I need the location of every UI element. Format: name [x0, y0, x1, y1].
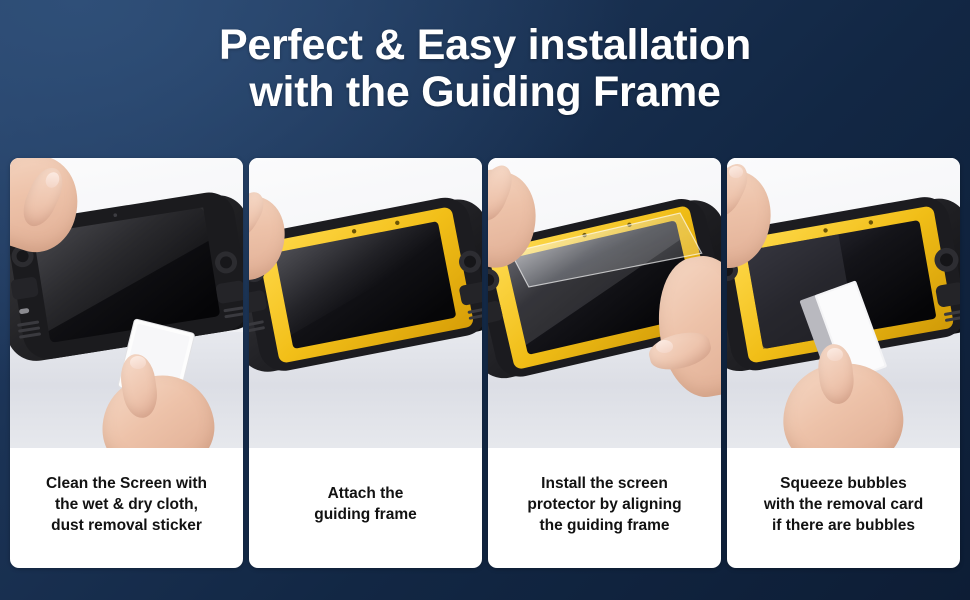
page-title: Perfect & Easy installation with the Gui… — [0, 22, 970, 116]
step-image-2 — [249, 158, 482, 448]
console-with-frame-graphic — [249, 158, 482, 448]
step-caption-4: Squeeze bubbles with the removal card if… — [727, 448, 960, 568]
step-image-1 — [10, 158, 243, 448]
steps-row: Clean the Screen with the wet & dry clot… — [10, 158, 960, 568]
caption-line: Squeeze bubbles — [764, 473, 923, 494]
deck-illustration-1 — [10, 158, 243, 448]
step-caption-3: Install the screen protector by aligning… — [488, 448, 721, 568]
step-image-4 — [727, 158, 960, 448]
caption-line: with the removal card — [764, 494, 923, 515]
caption-line: if there are bubbles — [764, 515, 923, 536]
step-caption-2: Attach the guiding frame — [249, 448, 482, 568]
caption-line: Attach the — [314, 483, 416, 504]
caption-line: the wet & dry cloth, — [46, 494, 207, 515]
step-card-4: Squeeze bubbles with the removal card if… — [727, 158, 960, 568]
fingernail — [827, 348, 843, 361]
step-image-3 — [488, 158, 721, 448]
deck-illustration-2 — [249, 158, 482, 448]
fingernail — [656, 340, 673, 353]
caption-line: Clean the Screen with — [46, 473, 207, 494]
deck-illustration-4 — [727, 158, 960, 448]
step-caption-1: Clean the Screen with the wet & dry clot… — [10, 448, 243, 568]
page-title-line-2: with the Guiding Frame — [0, 69, 970, 116]
promo-banner: Perfect & Easy installation with the Gui… — [0, 0, 970, 600]
step-card-3: Install the screen protector by aligning… — [488, 158, 721, 568]
caption-line: dust removal sticker — [46, 515, 207, 536]
caption-line: the guiding frame — [527, 515, 681, 536]
page-title-line-1: Perfect & Easy installation — [219, 21, 751, 69]
fingernail — [130, 356, 146, 369]
step-card-1: Clean the Screen with the wet & dry clot… — [10, 158, 243, 568]
fingernail — [729, 166, 743, 178]
caption-line: protector by aligning — [527, 494, 681, 515]
caption-line: guiding frame — [314, 504, 416, 525]
step-card-2: Attach the guiding frame — [249, 158, 482, 568]
caption-line: Install the screen — [527, 473, 681, 494]
deck-illustration-3 — [488, 158, 721, 448]
